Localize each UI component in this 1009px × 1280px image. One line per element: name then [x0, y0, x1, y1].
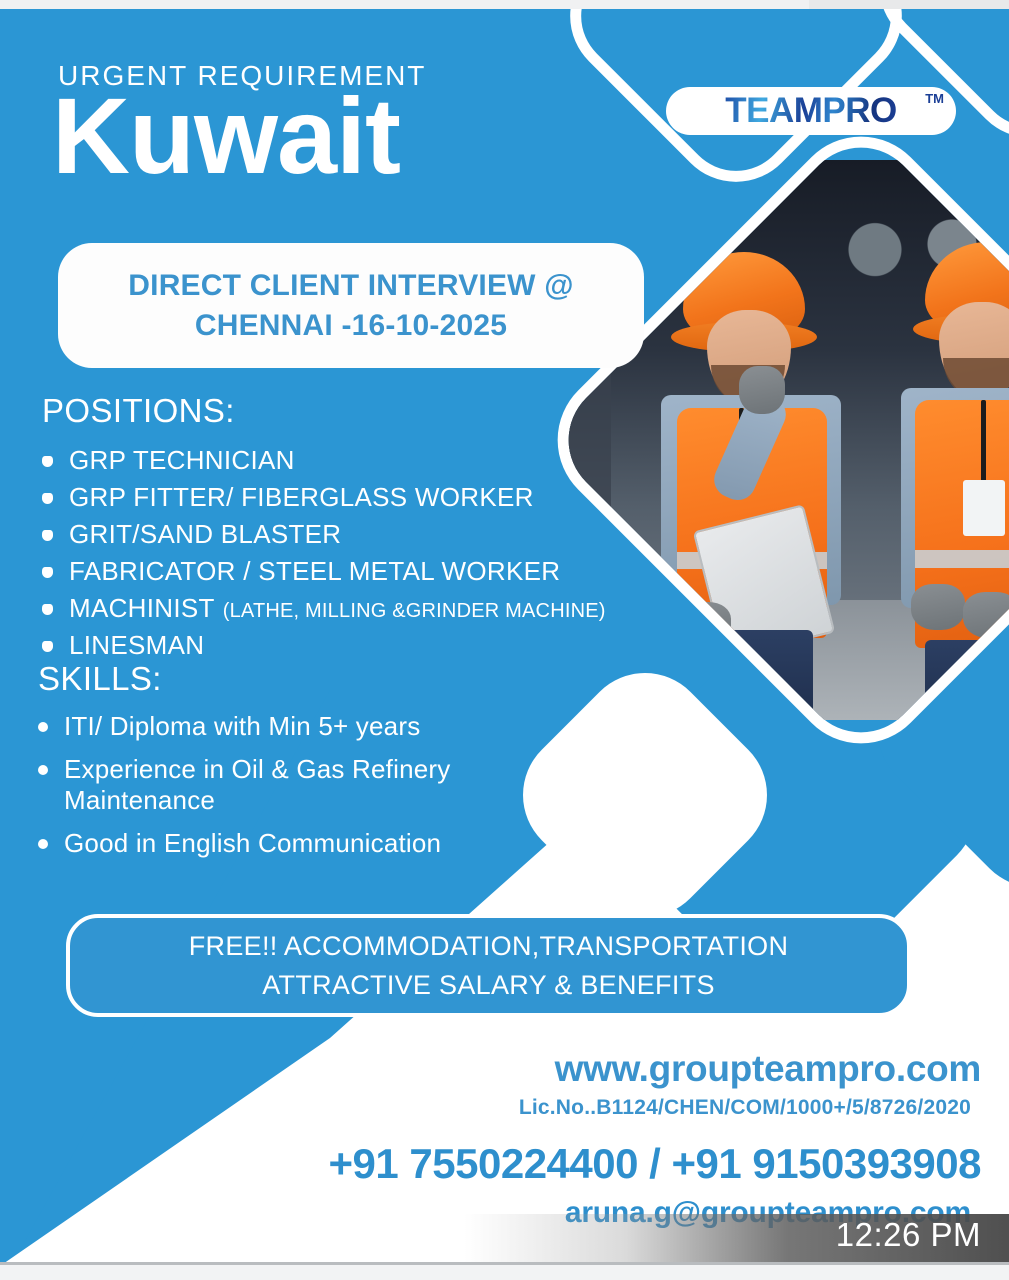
position-label: GRP FITTER/ FIBERGLASS WORKER — [69, 482, 534, 513]
list-item: Good in English Communication — [38, 828, 538, 859]
list-item: GRIT/SAND BLASTER — [42, 519, 606, 550]
phone-numbers[interactable]: +91 7550224400 / +91 9150393908 — [0, 1140, 981, 1188]
list-item: ITI/ Diploma with Min 5+ years — [38, 711, 538, 742]
list-item: GRP TECHNICIAN — [42, 445, 606, 476]
bullet-icon — [42, 567, 53, 578]
skills-heading: SKILLS: — [38, 660, 162, 698]
bullet-icon — [38, 722, 48, 732]
lanyard-right — [981, 400, 986, 484]
position-label: MACHINIST — [69, 593, 215, 624]
bullet-icon — [42, 493, 53, 504]
position-label: GRIT/SAND BLASTER — [69, 519, 341, 550]
position-note: (LATHE, MILLING &GRINDER MACHINE) — [223, 600, 606, 623]
id-badge — [963, 480, 1005, 536]
interview-banner-line-1: DIRECT CLIENT INTERVIEW @ — [128, 266, 573, 306]
website-url[interactable]: www.groupteampro.com — [0, 1048, 981, 1090]
list-item: MACHINIST (LATHE, MILLING &GRINDER MACHI… — [42, 593, 606, 624]
device-bottom-strip-line — [0, 1262, 1009, 1265]
positions-heading: POSITIONS: — [42, 392, 235, 430]
list-item: FABRICATOR / STEEL METAL WORKER — [42, 556, 606, 587]
list-item: GRP FITTER/ FIBERGLASS WORKER — [42, 482, 606, 513]
benefits-line-1: FREE!! ACCOMMODATION,TRANSPORTATION — [189, 927, 789, 965]
skill-label: Good in English Communication — [64, 828, 441, 859]
interview-banner-line-2: CHENNAI -16-10-2025 — [195, 306, 507, 346]
page-title-country: Kuwait — [52, 82, 400, 190]
positions-list: GRP TECHNICIAN GRP FITTER/ FIBERGLASS WO… — [42, 445, 606, 667]
device-status-strip-right — [809, 0, 1009, 9]
benefits-line-2: ATTRACTIVE SALARY & BENEFITS — [262, 966, 715, 1004]
work-glove-right-a — [911, 584, 965, 630]
skill-label: Experience in Oil & Gas Refinery Mainten… — [64, 754, 538, 816]
safety-vest-stripe-right — [915, 550, 1009, 568]
benefits-banner: FREE!! ACCOMMODATION,TRANSPORTATION ATTR… — [66, 914, 911, 1017]
bullet-icon — [38, 765, 48, 775]
device-bottom-strip — [0, 1262, 1009, 1280]
bullet-icon — [38, 839, 48, 849]
bullet-icon — [42, 456, 53, 467]
position-label: GRP TECHNICIAN — [69, 445, 295, 476]
license-number: Lic.No..B1124/CHEN/COM/1000+/5/8726/2020 — [0, 1096, 971, 1120]
trademark-icon: TM — [925, 91, 944, 106]
clock-time: 12:26 PM — [836, 1216, 981, 1254]
position-label: LINESMAN — [69, 630, 204, 661]
work-glove-right-b — [963, 592, 1009, 638]
device-status-strip — [0, 0, 1009, 9]
bullet-icon — [42, 641, 53, 652]
teampro-logo-text: TEAMPRO — [725, 91, 897, 131]
skills-list: ITI/ Diploma with Min 5+ years Experienc… — [38, 711, 538, 871]
recruitment-poster: URGENT REQUIREMENT Kuwait TEAMPRO TM — [0, 0, 1009, 1280]
interview-announcement-banner: DIRECT CLIENT INTERVIEW @ CHENNAI -16-10… — [58, 243, 644, 368]
skill-label: ITI/ Diploma with Min 5+ years — [64, 711, 420, 742]
list-item: Experience in Oil & Gas Refinery Mainten… — [38, 754, 538, 816]
teampro-logo: TEAMPRO TM — [666, 87, 956, 135]
bullet-icon — [42, 530, 53, 541]
list-item: LINESMAN — [42, 630, 606, 661]
work-glove-left-hand — [739, 366, 785, 414]
bullet-icon — [42, 604, 53, 615]
position-label: FABRICATOR / STEEL METAL WORKER — [69, 556, 560, 587]
